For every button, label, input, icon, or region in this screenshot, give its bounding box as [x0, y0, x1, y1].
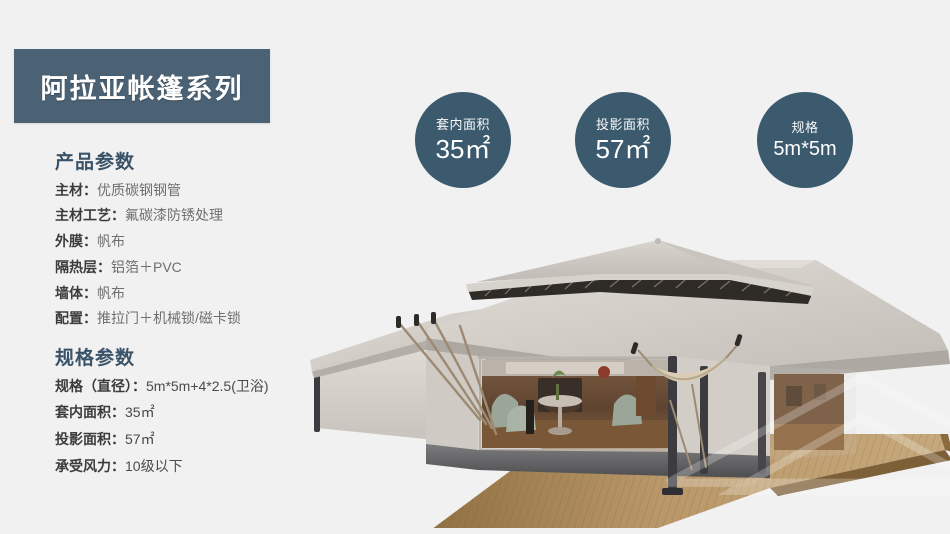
param-value: 铝箔＋PVC — [111, 259, 182, 275]
spec-label: 规格（直径）： — [55, 378, 146, 394]
param-label: 配置： — [55, 310, 97, 326]
param-value: 帆布 — [97, 285, 125, 301]
metric-badge-dimensions: 规格 5m*5m — [757, 92, 853, 188]
badge-label: 套内面积 — [436, 118, 490, 131]
tent-illustration: 喜利篷房 SHELE TENT — [300, 238, 950, 528]
param-value: 优质碳钢钢管 — [97, 182, 181, 198]
param-label: 主材工艺： — [55, 207, 125, 223]
param-label: 外膜： — [55, 233, 97, 249]
spec-value: 57㎡ — [125, 431, 155, 447]
product-param-row: 主材：优质碳钢钢管 — [55, 183, 355, 198]
badge-label: 投影面积 — [596, 118, 650, 131]
product-parameters-heading: 产品参数 — [55, 152, 355, 175]
series-title-banner: 阿拉亚帐篷系列 — [14, 49, 270, 123]
metric-badge-interior-area: 套内面积 35㎡ — [415, 92, 511, 188]
badge-value: 57㎡ — [596, 136, 651, 162]
spec-label: 承受风力： — [55, 458, 125, 474]
spec-value: 35㎡ — [125, 404, 155, 420]
param-label: 隔热层： — [55, 259, 111, 275]
spec-value: 5m*5m+4*2.5(卫浴) — [146, 378, 269, 394]
series-title-text: 阿拉亚帐篷系列 — [41, 67, 244, 106]
param-value: 推拉门＋机械锁/磁卡锁 — [97, 310, 241, 326]
product-param-row: 主材工艺：氟碳漆防锈处理 — [55, 208, 355, 223]
spec-label: 套内面积： — [55, 404, 125, 420]
param-value: 氟碳漆防锈处理 — [125, 207, 223, 223]
page-root: 阿拉亚帐篷系列 产品参数 主材：优质碳钢钢管 主材工艺：氟碳漆防锈处理 外膜：帆… — [0, 0, 950, 534]
spec-label: 投影面积： — [55, 431, 125, 447]
badge-value: 5m*5m — [773, 139, 836, 159]
param-label: 墙体： — [55, 285, 97, 301]
badge-value: 35㎡ — [436, 136, 491, 162]
metric-badge-projected-area: 投影面积 57㎡ — [575, 92, 671, 188]
badge-label: 规格 — [791, 121, 818, 134]
tent-svg — [300, 238, 950, 528]
spec-value: 10级以下 — [125, 458, 183, 474]
param-label: 主材： — [55, 182, 97, 198]
param-value: 帆布 — [97, 233, 125, 249]
